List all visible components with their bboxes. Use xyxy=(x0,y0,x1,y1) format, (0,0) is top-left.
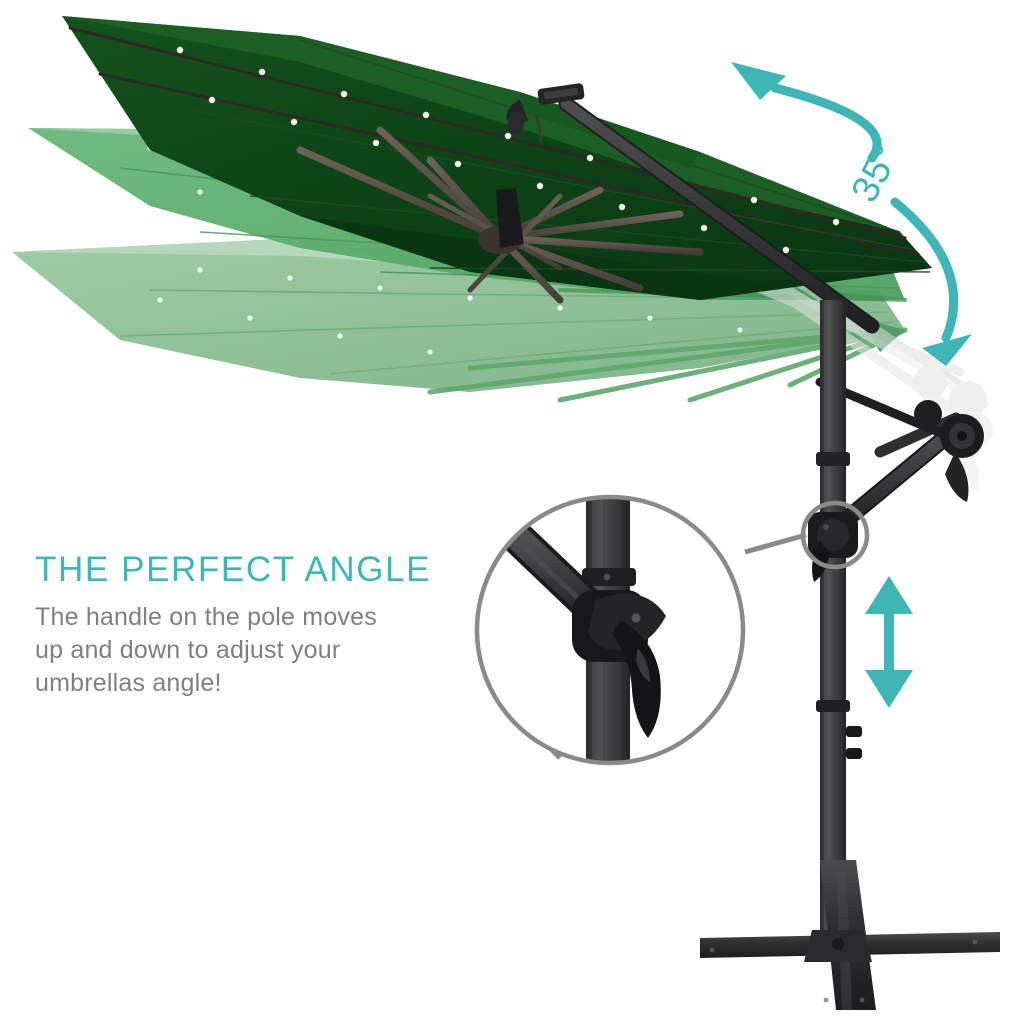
product-feature-image: 35° THE PERFECT ANGLE The handle on the … xyxy=(0,0,1024,1024)
pole-adjust-knobs xyxy=(846,726,862,759)
height-adjust-double-arrow xyxy=(865,576,913,708)
feature-description-line-3: umbrellas angle! xyxy=(35,667,455,700)
feature-description: The handle on the pole moves up and down… xyxy=(35,601,455,701)
feature-description-line-2: up and down to adjust your xyxy=(35,634,455,667)
page-title: THE PERFECT ANGLE xyxy=(35,552,505,589)
feature-description-line-1: The handle on the pole moves xyxy=(35,601,455,634)
feature-text-block: THE PERFECT ANGLE The handle on the pole… xyxy=(35,552,505,701)
cross-base xyxy=(700,860,1000,1010)
